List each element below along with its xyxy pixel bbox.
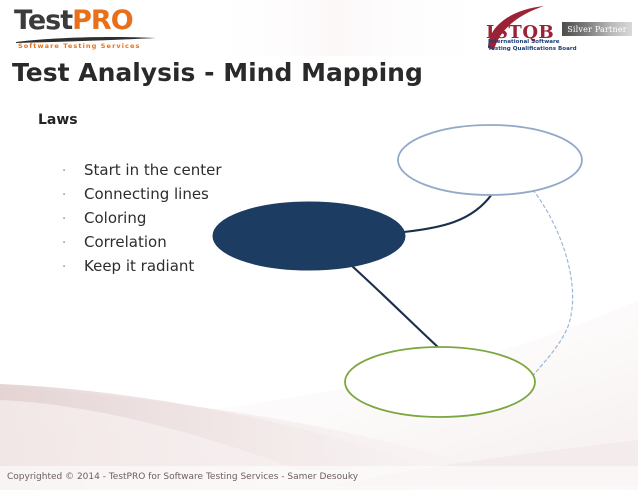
connector-center-to-green <box>352 266 440 349</box>
connector-center-to-blue <box>404 194 492 232</box>
slide-canvas: TestPRO Software Testing Services ISTQB … <box>0 0 638 490</box>
mindmap-node-green[interactable] <box>345 347 535 417</box>
connector-blue-to-green <box>524 190 573 393</box>
mindmap-node-blue[interactable] <box>398 125 582 195</box>
footer-copyright: Copyrighted © 2014 - TestPRO for Softwar… <box>7 472 358 482</box>
mindmap-node-center[interactable] <box>213 202 405 270</box>
mind-map-diagram <box>0 0 638 490</box>
